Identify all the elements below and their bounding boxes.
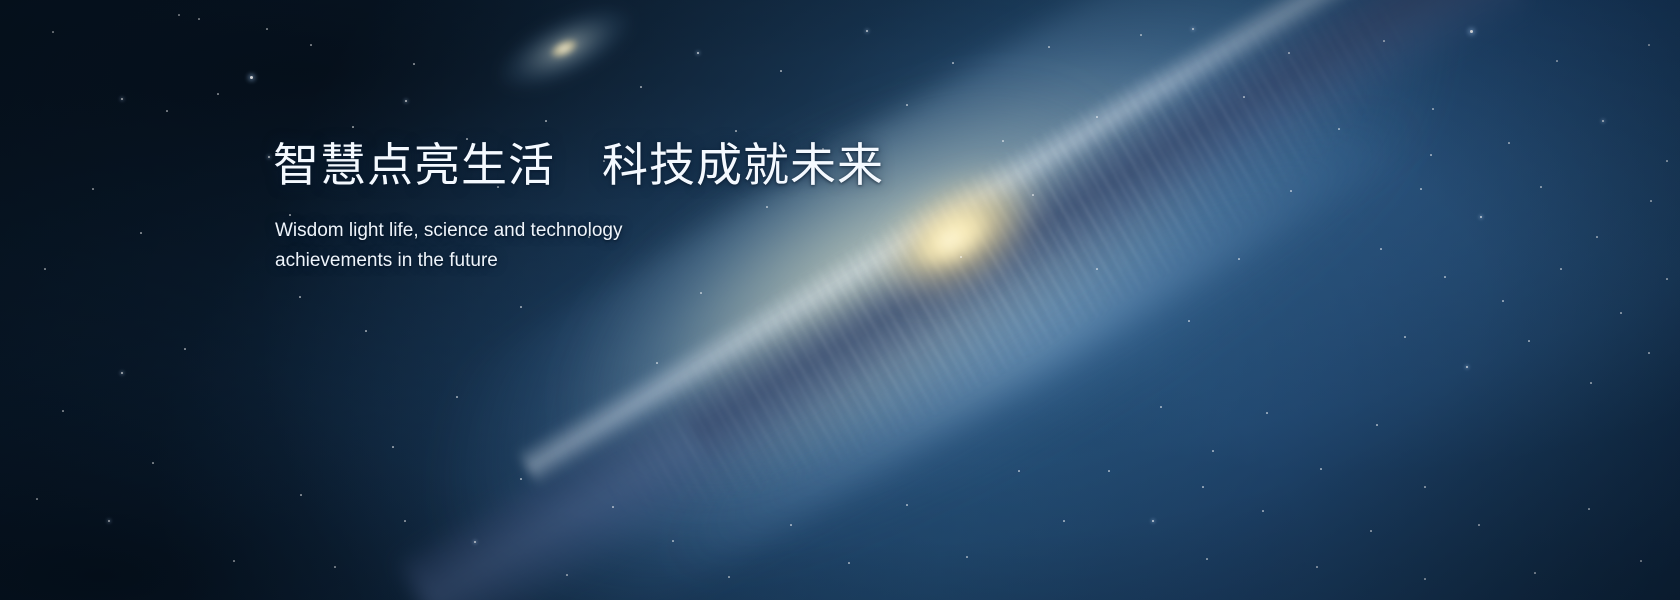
banner-subtitle-line-1: Wisdom light life, science and technolog… (275, 216, 675, 246)
banner-headline: 智慧点亮生活 科技成就未来 (273, 138, 993, 192)
vignette-overlay (0, 0, 1680, 600)
hero-banner: 智慧点亮生活 科技成就未来 Wisdom light life, science… (0, 0, 1680, 600)
banner-text-block: 智慧点亮生活 科技成就未来 Wisdom light life, science… (273, 138, 993, 276)
banner-subtitle-line-2: achievements in the future (275, 246, 675, 276)
banner-subtitle: Wisdom light life, science and technolog… (275, 216, 675, 276)
